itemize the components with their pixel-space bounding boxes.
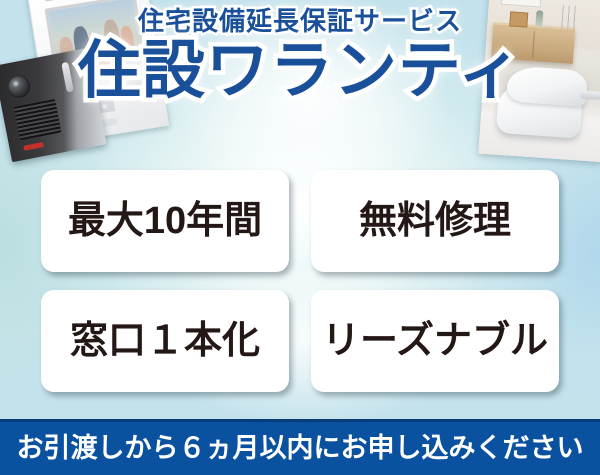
monitor-brand-strip: [45, 0, 85, 2]
feature-box-grid: 最大10年間 無料修理 窓口１本化 リーズナブル: [41, 170, 559, 392]
service-subtitle: 住宅設備延長保証サービス: [0, 8, 600, 35]
feature-label: 無料修理: [359, 202, 511, 240]
feature-single-contact: 窓口１本化: [41, 290, 289, 392]
feature-label: 最大10年間: [68, 202, 262, 240]
banner-root: 住宅設備延長保証サービス 住設ワランティ 最大10年間 無料修理 窓口１本化 リ…: [0, 0, 600, 475]
feature-free-repair: 無料修理: [311, 170, 559, 272]
toilet-wall-vent: [501, 0, 542, 7]
application-deadline-bar: お引渡しから６ヵ月以内にお申し込みください: [0, 419, 600, 475]
headline-block: 住宅設備延長保証サービス 住設ワランティ: [0, 8, 600, 105]
feature-label: リーズナブル: [322, 322, 548, 360]
feature-label: 窓口１本化: [70, 322, 260, 360]
feature-max-10-years: 最大10年間: [41, 170, 289, 272]
application-deadline-text: お引渡しから６ヵ月以内にお申し込みください: [17, 435, 584, 462]
service-title: 住設ワランティ: [0, 37, 600, 105]
door-station-call-button: [23, 142, 44, 151]
feature-reasonable-price: リーズナブル: [311, 290, 559, 392]
